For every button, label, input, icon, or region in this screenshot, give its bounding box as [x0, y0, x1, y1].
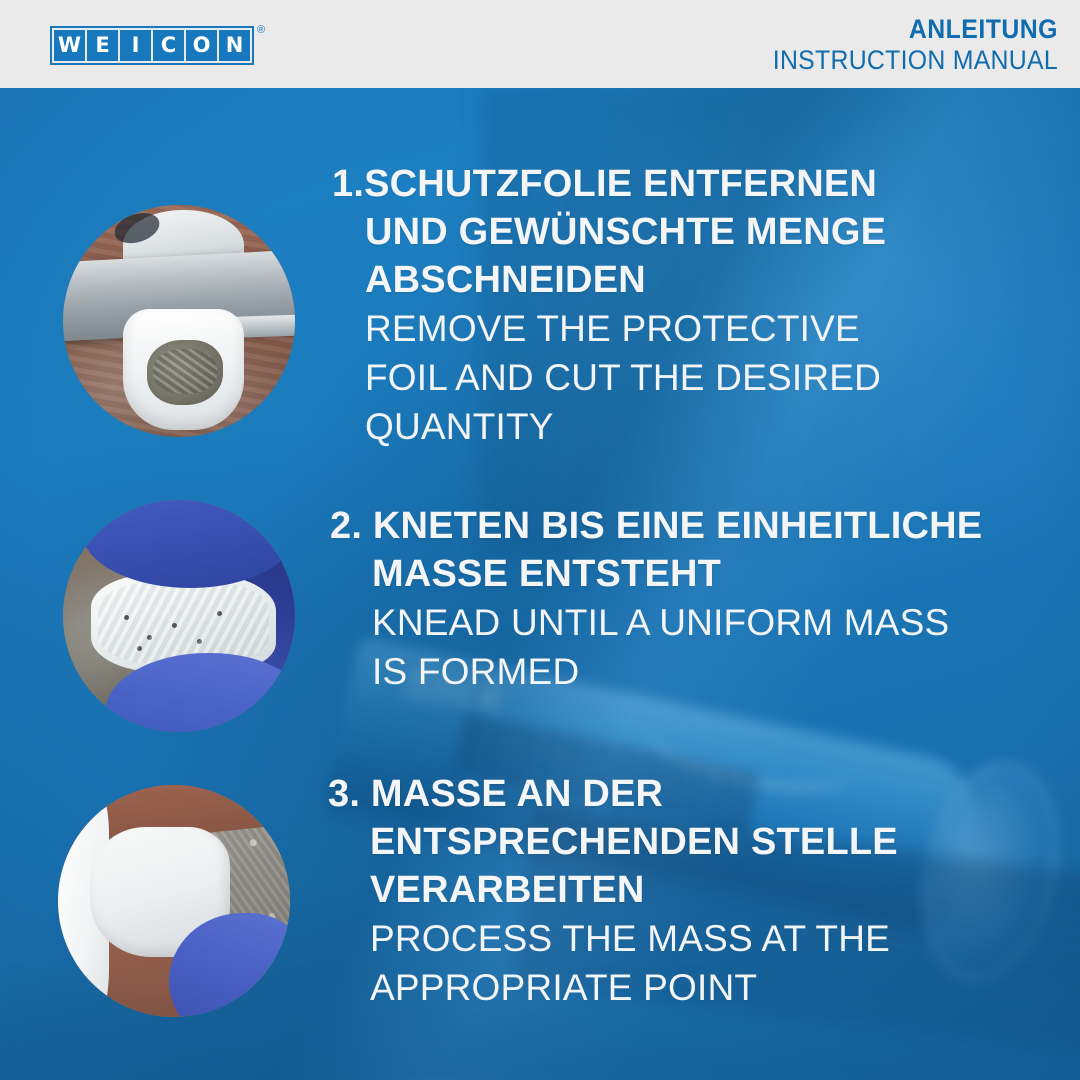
page-header: W E I C O N ® ANLEITUNG INSTRUCTION MANU… — [0, 0, 1080, 88]
step-3-de-line-1: 3. MASSE AN DER — [328, 770, 898, 818]
step-1-de-line-2: UND GEWÜNSCHTE MENGE — [332, 208, 886, 256]
logo-letter-n: N — [219, 30, 250, 61]
step-2-de-line-1: 2. KNETEN BIS EINE EINHEITLICHE — [330, 502, 982, 550]
photo2-speck — [217, 611, 222, 616]
instruction-manual-page: W E I C O N ® ANLEITUNG INSTRUCTION MANU… — [0, 0, 1080, 1080]
step-3-text: 3. MASSE AN DER ENTSPRECHENDEN STELLE VE… — [328, 770, 898, 1012]
header-title-english: INSTRUCTION MANUAL — [773, 44, 1058, 76]
kneading-putty-photo — [63, 500, 295, 732]
step-1-en-line-3: QUANTITY — [332, 402, 886, 451]
registered-trademark-icon: ® — [257, 24, 265, 36]
step-1-en-line-1: REMOVE THE PROTECTIVE — [332, 304, 886, 353]
logo-letter-w: W — [54, 30, 85, 61]
logo-letter-i: I — [120, 30, 151, 61]
step-3-de-line-3: VERARBEITEN — [328, 866, 898, 914]
logo-letter-e: E — [87, 30, 118, 61]
step-2-de-line-2: MASSE ENTSTEHT — [330, 550, 982, 598]
cutting-putty-stick-photo — [63, 205, 295, 437]
step-3-de-line-2: ENTSPRECHENDEN STELLE — [328, 818, 898, 866]
photo2-speck — [147, 635, 152, 640]
step-2-en-line-1: KNEAD UNTIL A UNIFORM MASS — [330, 598, 982, 647]
step-1-text: 1.SCHUTZFOLIE ENTFERNEN UND GEWÜNSCHTE M… — [332, 160, 886, 451]
photo2-speck — [197, 639, 202, 644]
step-3-en-line-2: APPROPRIATE POINT — [328, 963, 898, 1012]
step-2-en-line-2: IS FORMED — [330, 647, 982, 696]
header-title-group: ANLEITUNG INSTRUCTION MANUAL — [748, 14, 1058, 76]
applying-putty-photo — [58, 785, 290, 1017]
logo-frame: W E I C O N — [50, 26, 254, 65]
step-1-en-line-2: FOIL AND CUT THE DESIRED — [332, 353, 886, 402]
step-3-en-line-1: PROCESS THE MASS AT THE — [328, 914, 898, 963]
step-1-de-line-1: 1.SCHUTZFOLIE ENTFERNEN — [332, 160, 886, 208]
photo2-speck — [124, 615, 129, 620]
logo-letter-c: C — [153, 30, 184, 61]
step-2-text: 2. KNETEN BIS EINE EINHEITLICHE MASSE EN… — [330, 502, 982, 696]
logo-letter-o: O — [186, 30, 217, 61]
photo2-speck — [137, 646, 142, 651]
weicon-logo: W E I C O N ® — [50, 26, 265, 65]
header-title-german: ANLEITUNG — [773, 14, 1058, 44]
step-1-de-line-3: ABSCHNEIDEN — [332, 256, 886, 304]
photo2-speck — [172, 623, 177, 628]
steps-list: 1.SCHUTZFOLIE ENTFERNEN UND GEWÜNSCHTE M… — [0, 88, 1080, 1080]
photo1-putty-core — [147, 340, 224, 405]
